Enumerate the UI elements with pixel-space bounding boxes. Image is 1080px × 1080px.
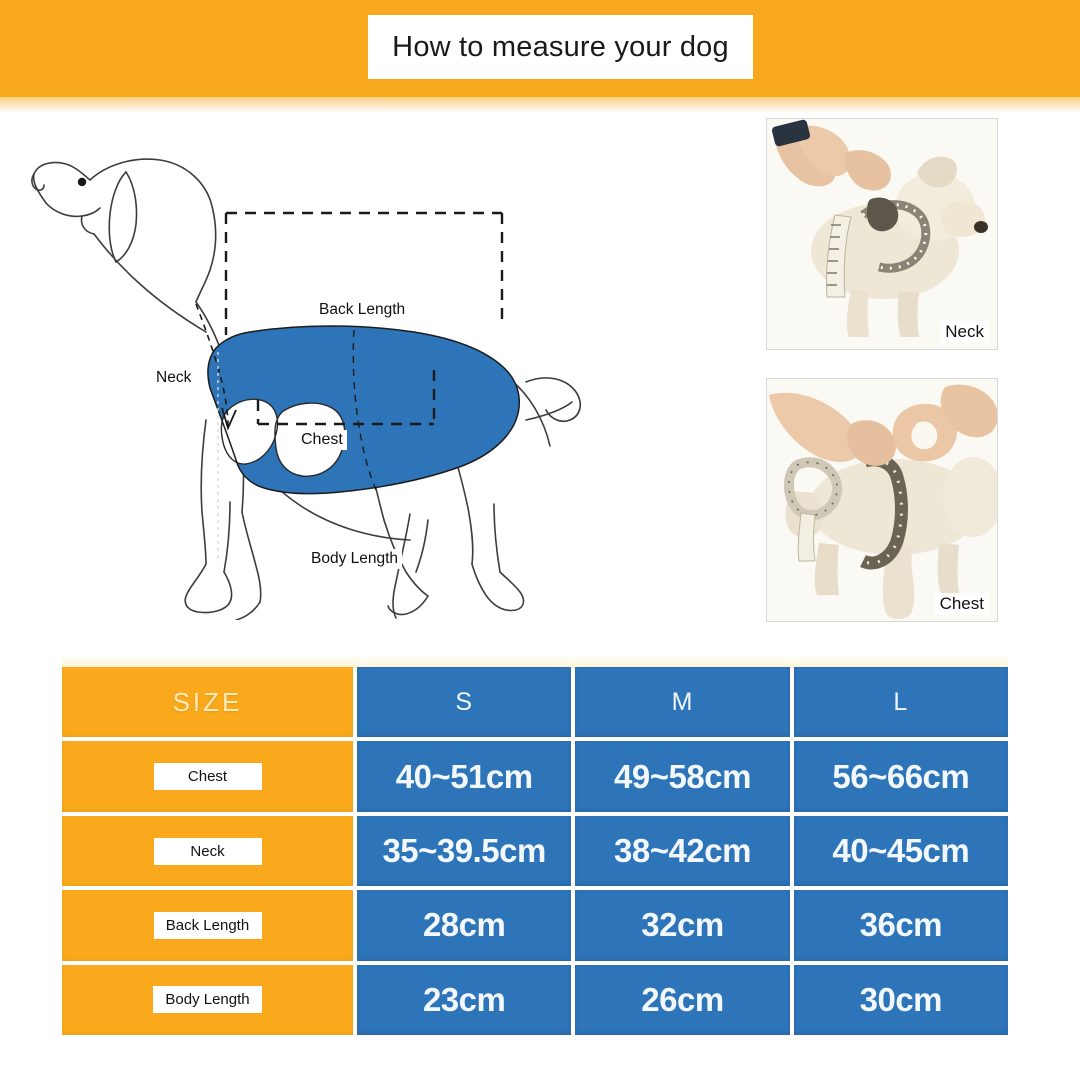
cell-back-length-s: 28cm bbox=[357, 890, 571, 960]
table-row: Chest 40~51cm 49~58cm 56~66cm bbox=[62, 741, 1008, 811]
diagram-label-neck: Neck bbox=[152, 368, 195, 388]
column-header-s: S bbox=[357, 667, 571, 737]
table-header-size-cell: SIZE bbox=[62, 667, 353, 737]
neck-photo-label: Neck bbox=[940, 321, 989, 343]
diagram-label-chest: Chest bbox=[297, 430, 347, 450]
neck-measurement-photo: Neck bbox=[766, 118, 998, 350]
cell-back-length-l: 36cm bbox=[794, 890, 1008, 960]
cell-body-length-m: 26cm bbox=[575, 965, 789, 1035]
dog-illustration bbox=[10, 120, 630, 620]
dog-eye bbox=[78, 178, 86, 186]
cell-neck-m: 38~42cm bbox=[575, 816, 789, 886]
cell-back-length-m: 32cm bbox=[575, 890, 789, 960]
size-chart-table: SIZE S M L Chest 40~51cm 49~58cm 56~66cm… bbox=[62, 667, 1008, 1035]
garment-shape bbox=[208, 326, 519, 494]
diagram-label-body-length: Body Length bbox=[307, 549, 402, 569]
cell-neck-s: 35~39.5cm bbox=[357, 816, 571, 886]
row-label-cell-chest: Chest bbox=[62, 741, 353, 811]
cell-body-length-s: 23cm bbox=[357, 965, 571, 1035]
header-fade bbox=[0, 97, 1080, 113]
table-row: Body Length 23cm 26cm 30cm bbox=[62, 965, 1008, 1035]
row-label-neck: Neck bbox=[154, 838, 262, 865]
row-label-cell-neck: Neck bbox=[62, 816, 353, 886]
cell-body-length-l: 30cm bbox=[794, 965, 1008, 1035]
diagram-label-back-length: Back Length bbox=[315, 300, 409, 320]
cell-chest-s: 40~51cm bbox=[357, 741, 571, 811]
chest-measurement-photo: Chest bbox=[766, 378, 998, 622]
chest-photo-label: Chest bbox=[935, 593, 989, 615]
row-label-back-length: Back Length bbox=[154, 912, 262, 939]
size-guide-page: How to measure your dog bbox=[0, 0, 1080, 1080]
table-row: Neck 35~39.5cm 38~42cm 40~45cm bbox=[62, 816, 1008, 886]
row-label-chest: Chest bbox=[154, 763, 262, 790]
row-label-body-length: Body Length bbox=[153, 986, 261, 1013]
title-box: How to measure your dog bbox=[368, 15, 753, 79]
table-header-row: SIZE S M L bbox=[62, 667, 1008, 737]
column-header-l: L bbox=[794, 667, 1008, 737]
cell-chest-m: 49~58cm bbox=[575, 741, 789, 811]
page-title: How to measure your dog bbox=[392, 31, 729, 64]
row-label-cell-body-length: Body Length bbox=[62, 965, 353, 1035]
row-label-cell-back-length: Back Length bbox=[62, 890, 353, 960]
cell-neck-l: 40~45cm bbox=[794, 816, 1008, 886]
dog-measurement-diagram: Back Length Neck Chest Body Length bbox=[10, 120, 630, 620]
column-header-m: M bbox=[575, 667, 789, 737]
cell-chest-l: 56~66cm bbox=[794, 741, 1008, 811]
size-header-label: SIZE bbox=[173, 687, 243, 718]
table-row: Back Length 28cm 32cm 36cm bbox=[62, 890, 1008, 960]
